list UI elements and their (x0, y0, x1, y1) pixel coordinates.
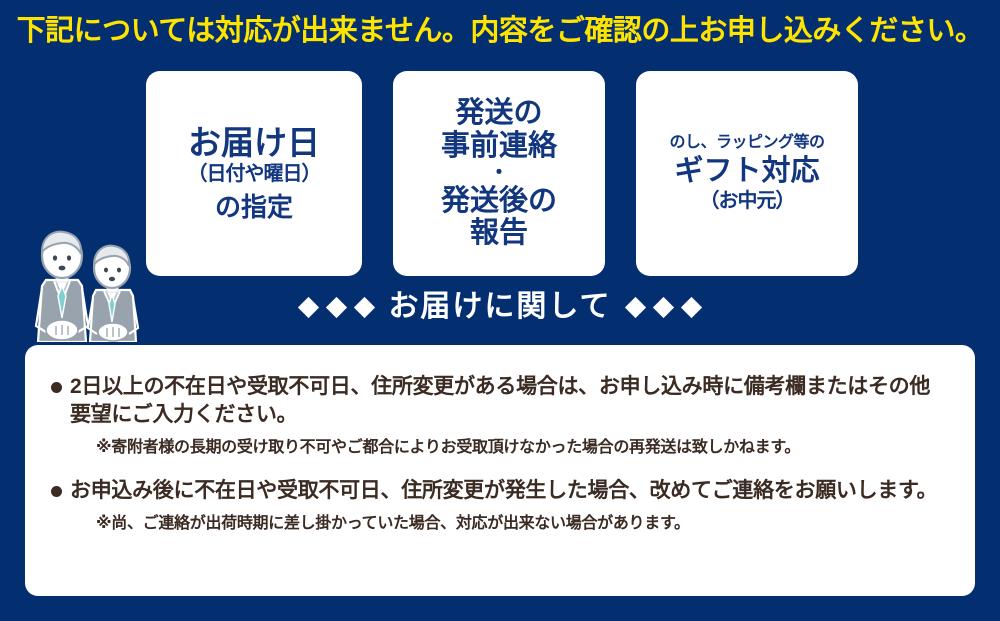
note-block-absence-address-change: 2日以上の不在日や受取不可日、住所変更がある場合は、お申し込み時に備考欄またはそ… (51, 373, 949, 459)
card-shipping-notice-line-1: 発送の (455, 97, 542, 129)
card-gift-wrapping-line-2: ギフト対応 (674, 155, 819, 188)
card-shipping-notice-separator-dot: ・ (489, 162, 509, 184)
bullet-icon (51, 382, 62, 393)
card-gift-wrapping-line-1: のし、ラッピング等の (669, 134, 824, 152)
delivery-notice-banner: 下記については対応が出来ません。内容をご確認の上お申し込みください。 お届け日 … (0, 0, 1000, 621)
section-title-row: お届けに関して (0, 283, 1000, 331)
delivery-notes-panel: 2日以上の不在日や受取不可日、住所変更がある場合は、お申し込み時に備考欄またはそ… (25, 345, 975, 596)
diamond-icon (298, 296, 319, 317)
diamond-icon (624, 296, 645, 317)
note-main-text: お申込み後に不在日や受取不可日、住所変更が発生した場合、改めてご連絡をお願いしま… (70, 477, 949, 505)
diamond-group-left (301, 300, 372, 315)
diamond-group-right (628, 300, 699, 315)
card-gift-wrapping-line-3: （お中元） (700, 190, 795, 213)
card-delivery-date-line-3: の指定 (215, 193, 293, 223)
header-title: 下記については対応が出来ません。内容をご確認の上お申し込みください。 (17, 17, 984, 46)
section-title: お届けに関して (388, 292, 611, 322)
diamond-icon (354, 296, 375, 317)
note-main-text: 2日以上の不在日や受取不可日、住所変更がある場合は、お申し込み時に備考欄またはそ… (70, 373, 949, 429)
bullet-icon (51, 486, 62, 497)
diamond-icon (680, 296, 701, 317)
note-sub-text: ※寄附者様の長期の受け取り不可やご都合によりお受取頂けなかった場合の再発送は致し… (96, 438, 949, 459)
note-main-row: お申込み後に不在日や受取不可日、住所変更が発生した場合、改めてご連絡をお願いしま… (51, 477, 949, 505)
card-delivery-date: お届け日 （日付や曜日） の指定 (146, 71, 362, 276)
note-sub-text: ※尚、ご連絡が出荷時期に差し掛かっていた場合、対応が出来ない場合があります。 (96, 514, 949, 535)
card-shipping-notice: 発送の 事前連絡 ・ 発送後の 報告 (393, 71, 605, 276)
header-bar: 下記については対応が出来ません。内容をご確認の上お申し込みください。 (0, 0, 1000, 62)
note-main-row: 2日以上の不在日や受取不可日、住所変更がある場合は、お申し込み時に備考欄またはそ… (51, 373, 949, 429)
note-block-post-application-contact: お申込み後に不在日や受取不可日、住所変更が発生した場合、改めてご連絡をお願いしま… (51, 477, 949, 535)
unsupported-items-card-row: お届け日 （日付や曜日） の指定 発送の 事前連絡 ・ 発送後の 報告 のし、ラ… (146, 71, 858, 276)
card-shipping-notice-line-2: 事前連絡 (441, 130, 557, 162)
card-shipping-notice-line-4: 報告 (470, 217, 528, 249)
diamond-icon (326, 296, 347, 317)
card-gift-wrapping: のし、ラッピング等の ギフト対応 （お中元） (636, 71, 858, 276)
card-delivery-date-line-1: お届け日 (188, 124, 320, 162)
card-shipping-notice-line-3: 発送後の (441, 185, 557, 217)
card-delivery-date-line-2: （日付や曜日） (188, 163, 321, 186)
diamond-icon (652, 296, 673, 317)
